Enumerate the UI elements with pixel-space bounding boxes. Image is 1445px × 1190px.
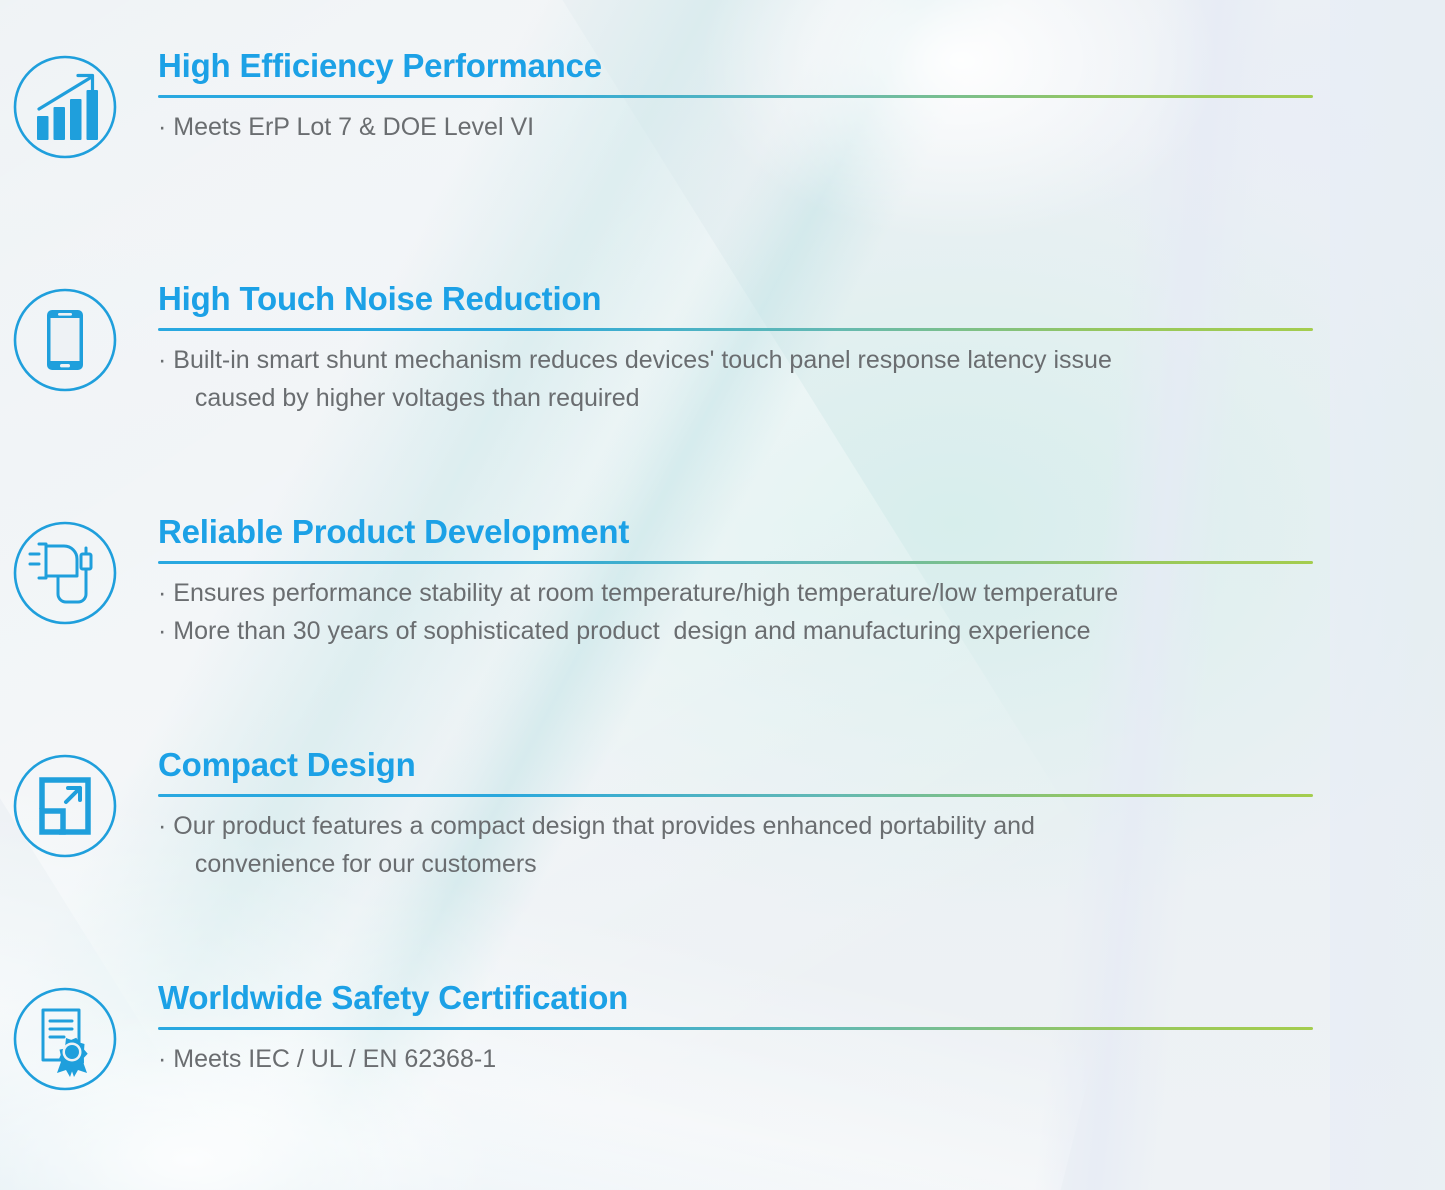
- feature-title: High Efficiency Performance: [158, 46, 1445, 86]
- feature-bullet: · Built-in smart shunt mechanism reduces…: [158, 341, 1445, 417]
- feature-title: Worldwide Safety Certification: [158, 978, 1445, 1018]
- power-adapter-icon: [6, 514, 124, 632]
- feature-title: Compact Design: [158, 745, 1445, 785]
- feature-item-worldwide-safety-certification: Worldwide Safety Certification · Meets I…: [0, 978, 1445, 1098]
- feature-bullets: · Meets IEC / UL / EN 62368-1: [158, 1040, 1445, 1078]
- feature-item-compact-design: Compact Design · Our product features a …: [0, 745, 1445, 883]
- feature-title: Reliable Product Development: [158, 512, 1445, 552]
- feature-bullets: · Built-in smart shunt mechanism reduces…: [158, 341, 1445, 417]
- feature-item-reliable-product-development: Reliable Product Development · Ensures p…: [0, 512, 1445, 650]
- feature-list: High Efficiency Performance · Meets ErP …: [0, 0, 1445, 1190]
- feature-divider: [158, 794, 1313, 797]
- feature-bullet: · More than 30 years of sophisticated pr…: [158, 612, 1445, 650]
- feature-divider: [158, 95, 1313, 98]
- feature-icon-wrap: [0, 512, 130, 632]
- feature-icon-wrap: [0, 745, 130, 865]
- feature-divider: [158, 328, 1313, 331]
- compact-resize-icon: [6, 747, 124, 865]
- feature-bullet: · Meets ErP Lot 7 & DOE Level VI: [158, 108, 1445, 146]
- feature-bullet: · Meets IEC / UL / EN 62368-1: [158, 1040, 1445, 1078]
- feature-body: High Efficiency Performance · Meets ErP …: [130, 46, 1445, 146]
- feature-body: Compact Design · Our product features a …: [130, 745, 1445, 883]
- feature-icon-wrap: [0, 978, 130, 1098]
- certificate-seal-icon: [6, 980, 124, 1098]
- feature-body: Reliable Product Development · Ensures p…: [130, 512, 1445, 650]
- feature-divider: [158, 1027, 1313, 1030]
- feature-item-high-efficiency-performance: High Efficiency Performance · Meets ErP …: [0, 46, 1445, 166]
- feature-bullet: · Our product features a compact design …: [158, 807, 1445, 883]
- feature-bullets: · Meets ErP Lot 7 & DOE Level VI: [158, 108, 1445, 146]
- feature-item-high-touch-noise-reduction: High Touch Noise Reduction · Built-in sm…: [0, 279, 1445, 417]
- feature-divider: [158, 561, 1313, 564]
- feature-bullets: · Our product features a compact design …: [158, 807, 1445, 883]
- feature-bullet: · Ensures performance stability at room …: [158, 574, 1445, 612]
- feature-body: Worldwide Safety Certification · Meets I…: [130, 978, 1445, 1078]
- feature-title: High Touch Noise Reduction: [158, 279, 1445, 319]
- feature-icon-wrap: [0, 46, 130, 166]
- feature-body: High Touch Noise Reduction · Built-in sm…: [130, 279, 1445, 417]
- feature-highlights-page: High Efficiency Performance · Meets ErP …: [0, 0, 1445, 1190]
- bar-chart-growth-icon: [6, 48, 124, 166]
- feature-icon-wrap: [0, 279, 130, 399]
- smartphone-icon: [6, 281, 124, 399]
- feature-bullets: · Ensures performance stability at room …: [158, 574, 1445, 650]
